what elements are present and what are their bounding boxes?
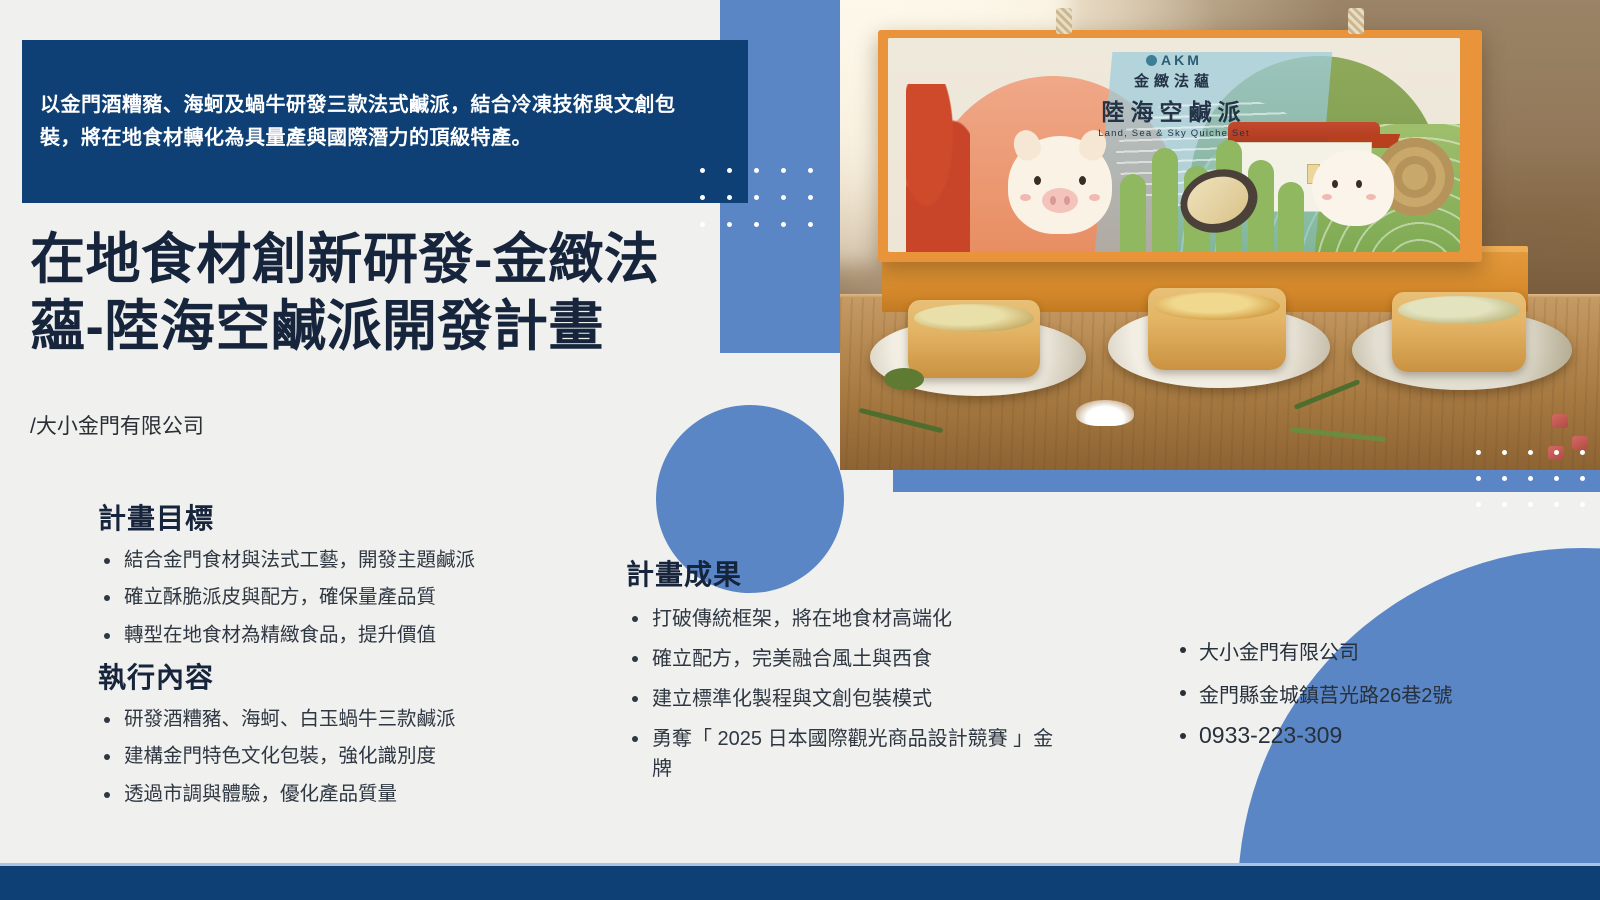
akm-logo: AKM (1049, 52, 1299, 68)
artwork-red-reeds (906, 84, 970, 252)
summary-box: 以金門酒糟豬、海蚵及蝸牛研發三款法式鹹派，結合冷凍技術與文創包裝，將在地食材轉化… (22, 40, 748, 203)
pig-snout (1042, 188, 1078, 213)
quiche-2 (1148, 288, 1286, 370)
decorative-dot (754, 195, 759, 200)
package-text-block: AKM 金緻法蘊 陸海空鹹派 Land, Sea & Sky Quiche Se… (1049, 52, 1299, 139)
contact-list: 大小金門有限公司 金門縣金城鎮莒光路26巷2號 0933-223-309 (1175, 636, 1575, 749)
section-results: 計畫成果 打破傳統框架，將在地食材高端化 確立配方，完美融合風土與西食 建立標準… (626, 553, 1056, 794)
section-results-list: 打破傳統框架，將在地食材高端化 確立配方，完美融合風土與西食 建立標準化製程與文… (626, 604, 1056, 784)
decorative-dot (1554, 450, 1559, 455)
gift-box: AKM 金緻法蘊 陸海空鹹派 Land, Sea & Sky Quiche Se… (878, 30, 1482, 262)
decorative-dot (808, 168, 813, 173)
decorative-dot (781, 222, 786, 227)
page-title: 在地食材創新研發-金緻法蘊-陸海空鹹派開發計畫 (30, 226, 710, 360)
list-item: 建立標準化製程與文創包裝模式 (626, 684, 1056, 714)
decorative-dot (1580, 450, 1585, 455)
list-item: 確立酥脆派皮與配方，確保量產品質 (98, 583, 618, 612)
decorative-dot (1554, 476, 1559, 481)
decorative-dot (700, 168, 705, 173)
snail-cheek-right (1366, 194, 1376, 200)
snail-eye-left (1332, 180, 1338, 188)
decorative-dot (1528, 450, 1533, 455)
list-item: 透過市調與體驗，優化產品質量 (98, 780, 618, 809)
decorative-dot (1528, 476, 1533, 481)
decorative-dot (1554, 502, 1559, 507)
list-item: 建構金門特色文化包裝，強化識別度 (98, 742, 618, 771)
summary-text: 以金門酒糟豬、海蚵及蝸牛研發三款法式鹹派，結合冷凍技術與文創包裝，將在地食材轉化… (22, 89, 748, 155)
decorative-dot (1502, 502, 1507, 507)
section-execution-heading: 執行內容 (98, 656, 618, 696)
artwork-pig (1008, 136, 1112, 234)
section-goals-heading: 計畫目標 (98, 497, 618, 537)
decorative-dot (781, 168, 786, 173)
quiche-3-filling (1398, 296, 1520, 324)
pig-eye-right (1079, 176, 1086, 185)
quiche-3 (1392, 292, 1526, 372)
decorative-dot (727, 195, 732, 200)
box-handle-left (1056, 8, 1072, 34)
list-item: 勇奪「 2025 日本國際觀光商品設計競賽 」金牌 (626, 724, 1056, 784)
decorative-dot (727, 168, 732, 173)
decorative-dot (700, 195, 705, 200)
snail-eye-right (1356, 180, 1362, 188)
bottom-bar (0, 866, 1600, 900)
diced-meat-1 (1552, 414, 1568, 428)
decorative-dot (1528, 502, 1533, 507)
diced-meat-2 (1572, 436, 1588, 450)
quiche-1-filling (914, 304, 1034, 332)
salt-pile (1076, 400, 1134, 426)
list-item: 轉型在地食材為精緻食品，提升價值 (98, 621, 618, 650)
decorative-dot (754, 168, 759, 173)
pig-cheek-left (1020, 194, 1031, 201)
section-goals-list: 結合金門食材與法式工藝，開發主題鹹派 確立酥脆派皮與配方，確保量產品質 轉型在地… (98, 546, 618, 650)
section-results-heading: 計畫成果 (626, 553, 1056, 593)
company-subtitle: /大小金門有限公司 (30, 410, 204, 440)
gift-box-artwork: AKM 金緻法蘊 陸海空鹹派 Land, Sea & Sky Quiche Se… (888, 38, 1460, 252)
photo-bottom-accent-strip (893, 470, 1600, 492)
decorative-dot (808, 222, 813, 227)
snail-cheek-left (1322, 194, 1332, 200)
decorative-dot (1476, 476, 1481, 481)
artwork-snail-body (1312, 150, 1394, 226)
package-product-name: 陸海空鹹派 (1049, 93, 1299, 127)
section-execution: 執行內容 研發酒糟豬、海蚵、白玉蝸牛三款鹹派 建構金門特色文化包裝，強化識別度 … (98, 656, 618, 817)
contact-phone: 0933-223-309 (1175, 722, 1575, 749)
pig-cheek-right (1089, 194, 1100, 201)
decorative-dot (808, 195, 813, 200)
list-item: 確立配方，完美融合風土與西食 (626, 644, 1056, 674)
product-photo: AKM 金緻法蘊 陸海空鹹派 Land, Sea & Sky Quiche Se… (840, 0, 1600, 470)
decorative-dot (1476, 502, 1481, 507)
herb-garnish-1 (884, 368, 924, 390)
list-item: 打破傳統框架，將在地食材高端化 (626, 604, 1056, 634)
decorative-dot (1580, 476, 1585, 481)
quiche-1 (908, 300, 1040, 378)
contact-address: 金門縣金城鎮莒光路26巷2號 (1175, 679, 1575, 708)
decorative-dot (1476, 450, 1481, 455)
package-brand-name: 金緻法蘊 (1049, 70, 1299, 91)
box-handle-right (1348, 8, 1364, 34)
section-execution-list: 研發酒糟豬、海蚵、白玉蝸牛三款鹹派 建構金門特色文化包裝，強化識別度 透過市調與… (98, 705, 618, 809)
package-product-name-en: Land, Sea & Sky Quiche Set (1049, 128, 1299, 139)
list-item: 研發酒糟豬、海蚵、白玉蝸牛三款鹹派 (98, 705, 618, 734)
pig-eye-left (1034, 176, 1041, 185)
section-goals: 計畫目標 結合金門食材與法式工藝，開發主題鹹派 確立酥脆派皮與配方，確保量產品質… (98, 497, 618, 658)
decorative-dot (1580, 502, 1585, 507)
akm-logo-text: AKM (1161, 52, 1202, 68)
list-item: 結合金門食材與法式工藝，開發主題鹹派 (98, 546, 618, 575)
quiche-2-filling (1154, 292, 1280, 320)
contact-company: 大小金門有限公司 (1175, 636, 1575, 665)
decorative-dot (754, 222, 759, 227)
decorative-dot (727, 222, 732, 227)
decorative-dot (1502, 450, 1507, 455)
decorative-dot (781, 195, 786, 200)
decorative-dot (1502, 476, 1507, 481)
